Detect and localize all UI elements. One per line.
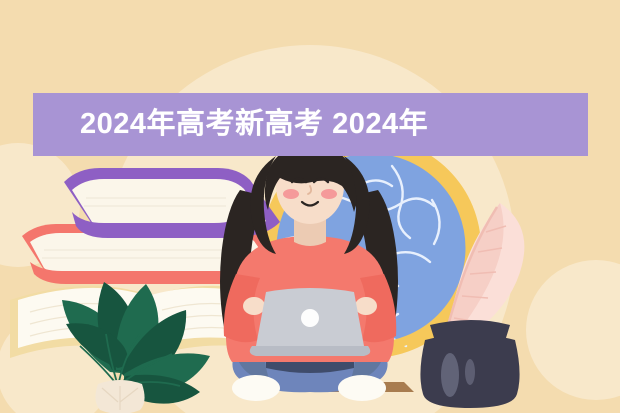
page-title: 2024年高考新高考 2024年 [33,110,428,139]
laptop-logo [301,309,319,327]
blush-right [321,189,337,199]
hand-left [243,297,265,315]
title-banner: 2024年高考新高考 2024年 [33,93,588,156]
illustration-canvas: 2024年高考新高考 2024年 [0,0,620,413]
character-girl [0,0,620,413]
blush-left [283,189,299,199]
shoe-left [232,375,280,401]
laptop-base [250,346,371,356]
shoe-right [338,375,386,401]
hand-right [355,297,377,315]
